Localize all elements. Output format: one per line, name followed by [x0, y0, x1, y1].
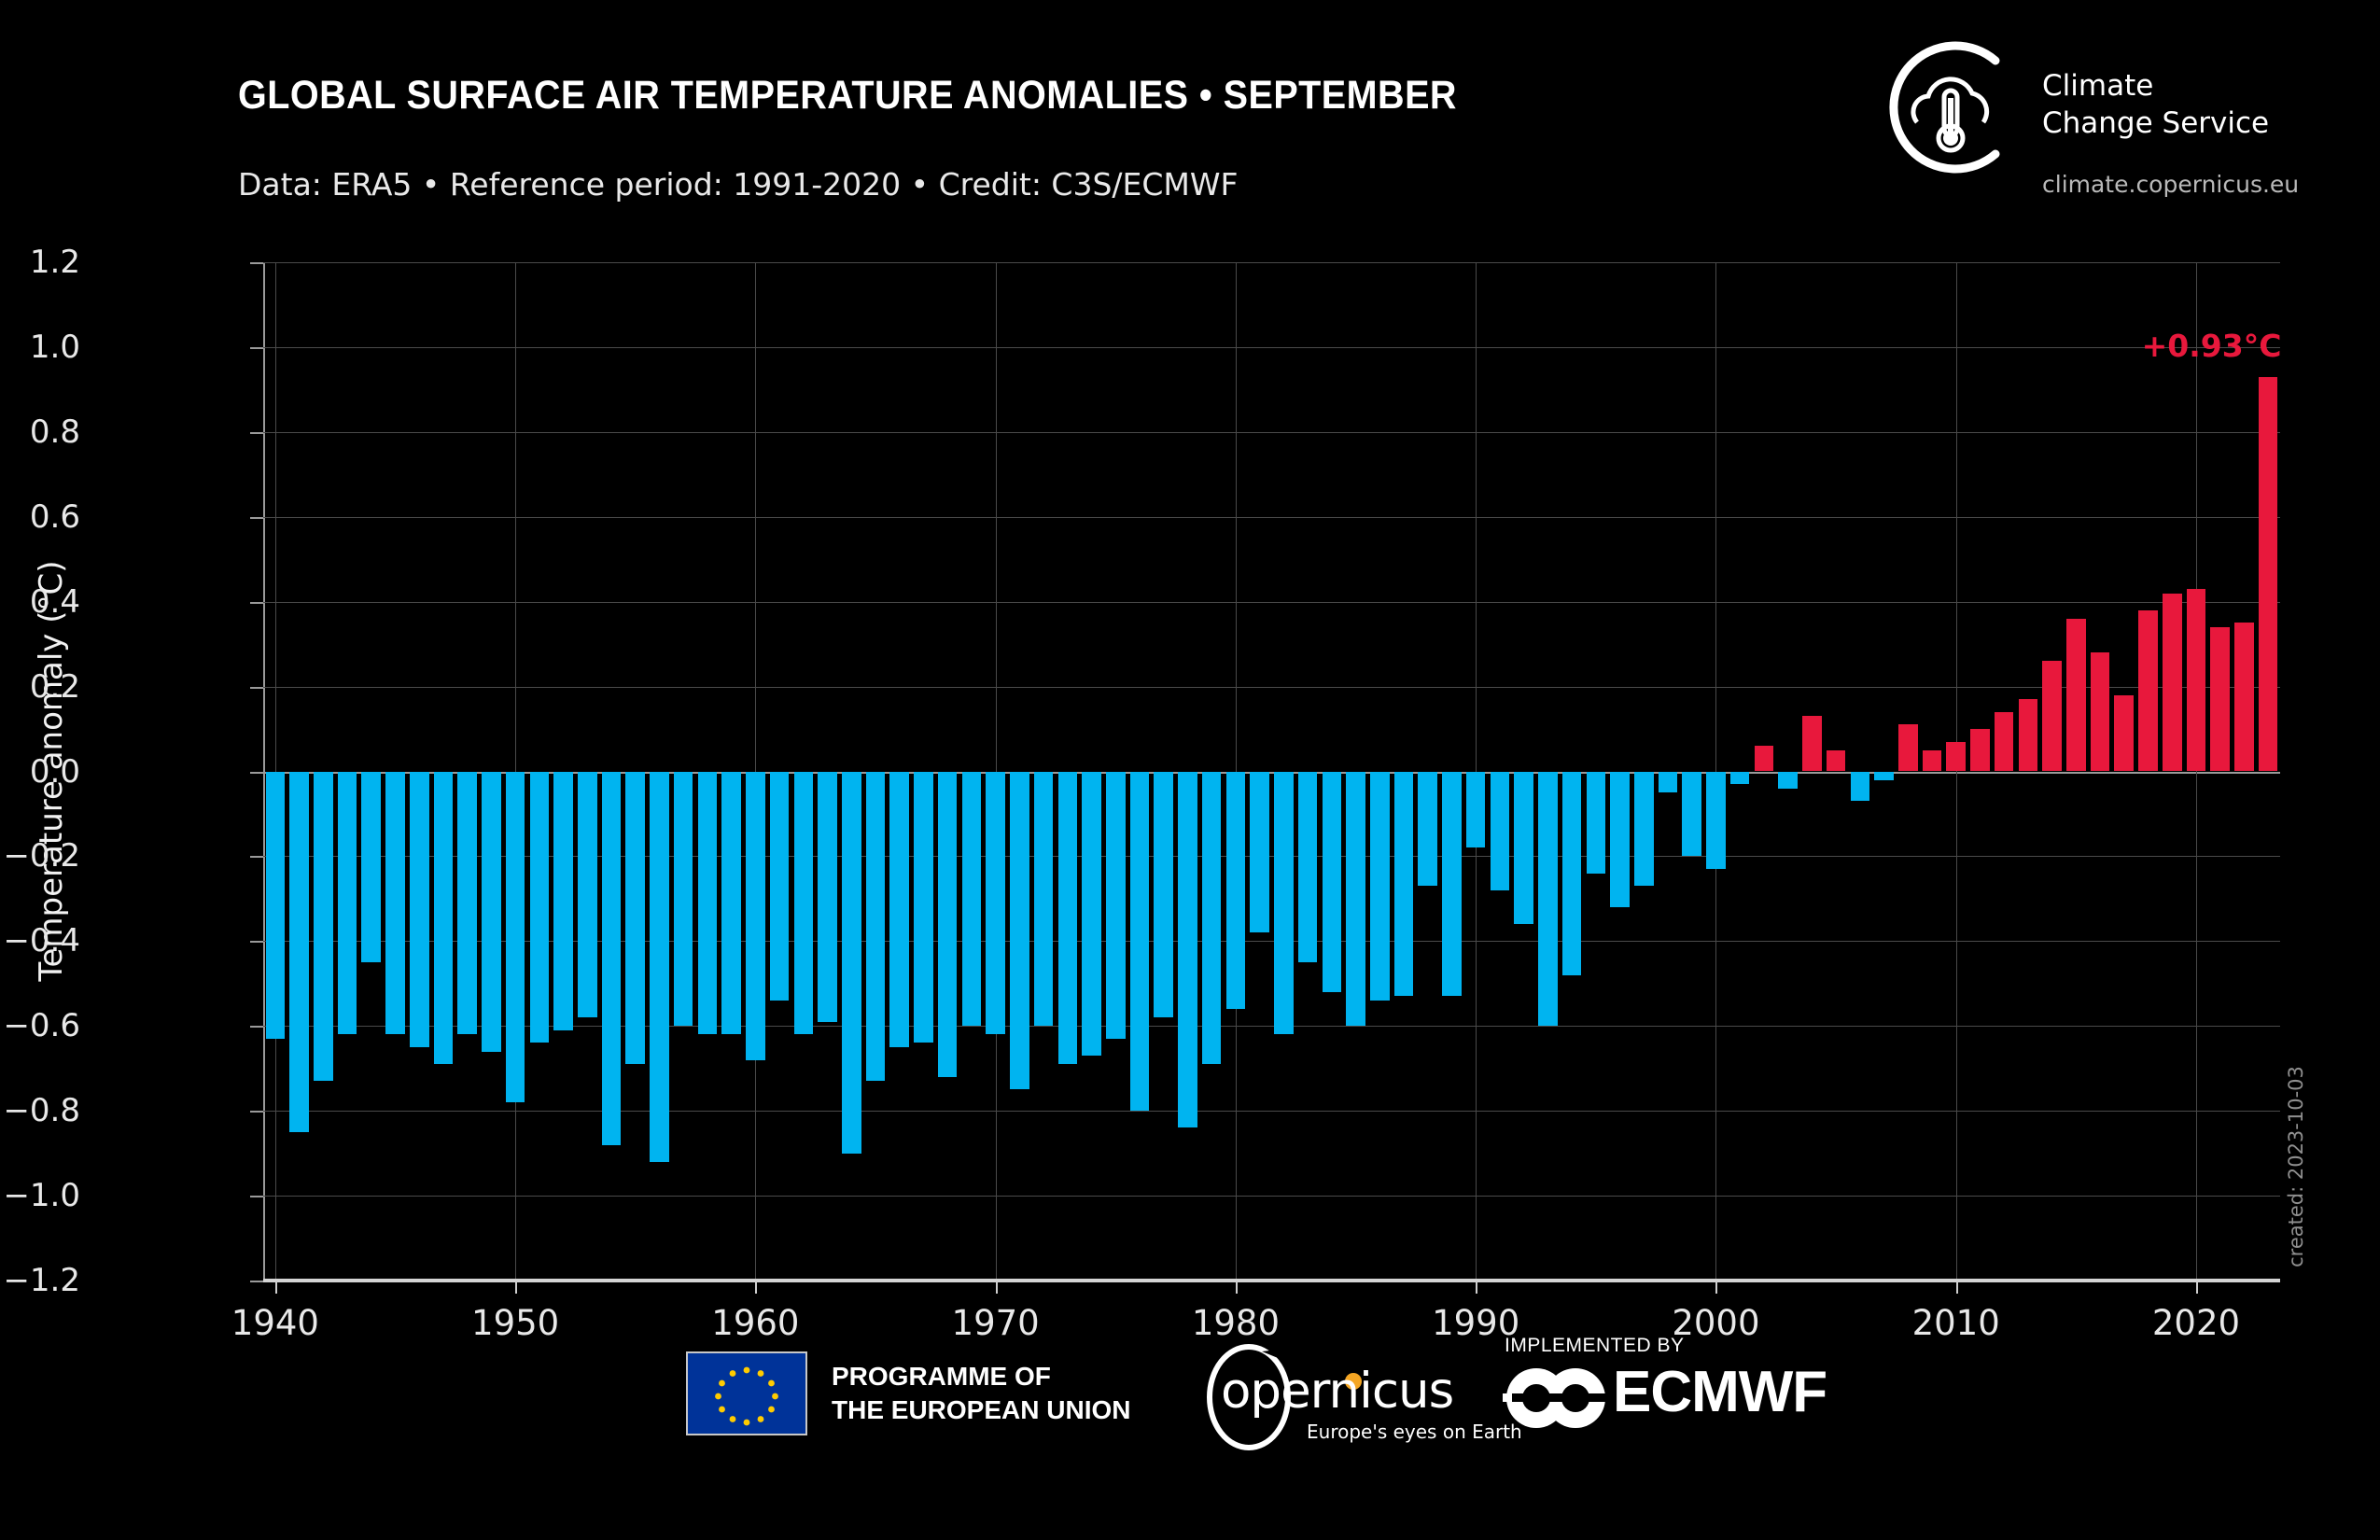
bar-1944 — [361, 772, 381, 963]
bar-2019 — [2163, 594, 2182, 772]
page-title: GLOBAL SURFACE AIR TEMPERATURE ANOMALIES… — [238, 73, 1457, 119]
bar-1971 — [1010, 772, 1029, 1090]
copernicus-tagline: Europe's eyes on Earth — [1307, 1421, 1522, 1443]
bar-1951 — [530, 772, 550, 1043]
bar-2018 — [2138, 610, 2158, 772]
x-tick-mark — [275, 1281, 277, 1294]
bar-1986 — [1370, 772, 1390, 1001]
bar-2023 — [2259, 377, 2278, 772]
bar-2021 — [2210, 627, 2230, 772]
page-subtitle: Data: ERA5 • Reference period: 1991-2020… — [238, 166, 1239, 203]
bar-1975 — [1106, 772, 1126, 1039]
c3s-logo-text: Climate Change Service — [2042, 68, 2269, 142]
y-tick-label: −0.8 — [0, 1092, 80, 1129]
bar-1948 — [457, 772, 477, 1035]
eu-flag-icon — [686, 1351, 807, 1435]
gridline-y — [263, 687, 2280, 688]
c3s-logo-line1: Climate — [2042, 68, 2269, 105]
bar-1964 — [842, 772, 861, 1154]
y-tick-mark — [250, 941, 263, 943]
bar-2001 — [1730, 772, 1750, 785]
x-tick-mark — [1715, 1281, 1717, 1294]
y-tick-mark — [250, 432, 263, 434]
bar-2015 — [2066, 619, 2086, 772]
eu-logo-line1: PROGRAMME OF — [832, 1360, 1130, 1393]
bar-1998 — [1659, 772, 1678, 793]
bar-1969 — [962, 772, 982, 1027]
bar-2010 — [1946, 742, 1966, 772]
bar-1946 — [410, 772, 429, 1047]
bar-1976 — [1130, 772, 1150, 1112]
bar-2011 — [1970, 729, 1990, 771]
y-tick-mark — [250, 347, 263, 349]
bar-1982 — [1274, 772, 1294, 1035]
y-tick-label: 1.0 — [0, 329, 80, 366]
bar-2009 — [1923, 750, 1942, 772]
y-tick-mark — [250, 856, 263, 858]
y-tick-label: 0.6 — [0, 498, 80, 536]
bar-2003 — [1778, 772, 1798, 789]
bar-1985 — [1346, 772, 1365, 1027]
x-tick-mark — [2196, 1281, 2198, 1294]
gridline-x — [2196, 262, 2197, 1281]
bar-1999 — [1682, 772, 1701, 857]
gridline-y — [263, 432, 2280, 433]
bar-1980 — [1226, 772, 1246, 1010]
y-tick-mark — [250, 772, 263, 774]
bar-1961 — [770, 772, 790, 1001]
created-timestamp: created: 2023-10-03 — [2285, 1066, 2307, 1267]
bar-1958 — [698, 772, 718, 1035]
x-tick-mark — [996, 1281, 998, 1294]
bar-1997 — [1634, 772, 1654, 887]
eu-logo-line2: THE EUROPEAN UNION — [832, 1393, 1130, 1427]
implemented-by-label: IMPLEMENTED BY — [1505, 1335, 1685, 1357]
bar-1972 — [1034, 772, 1054, 1027]
bar-1992 — [1514, 772, 1533, 925]
bar-1984 — [1323, 772, 1342, 992]
y-tick-label: −0.4 — [0, 922, 80, 959]
bar-2013 — [2019, 699, 2038, 771]
copernicus-wordmark: opernicus — [1221, 1363, 1453, 1420]
bar-1983 — [1298, 772, 1318, 963]
x-axis-line — [263, 1279, 2280, 1282]
bar-2014 — [2042, 661, 2062, 771]
bar-2005 — [1827, 750, 1846, 772]
y-tick-mark — [250, 602, 263, 604]
bar-2000 — [1706, 772, 1726, 870]
chart-page: GLOBAL SURFACE AIR TEMPERATURE ANOMALIES… — [0, 0, 2380, 1540]
y-tick-label: 0.4 — [0, 583, 80, 621]
gridline-y — [263, 1111, 2280, 1112]
bar-1991 — [1491, 772, 1510, 890]
x-tick-mark — [1476, 1281, 1477, 1294]
gridline-x — [1956, 262, 1957, 1281]
bar-2007 — [1874, 772, 1894, 780]
y-tick-label: 0.8 — [0, 413, 80, 451]
y-tick-label: 0.2 — [0, 668, 80, 706]
y-tick-mark — [250, 1196, 263, 1197]
bar-2002 — [1755, 746, 1774, 771]
y-tick-mark — [250, 1026, 263, 1028]
x-tick-mark — [755, 1281, 757, 1294]
bar-1987 — [1394, 772, 1414, 997]
bar-1978 — [1178, 772, 1197, 1128]
ecmwf-mark-icon — [1503, 1361, 1610, 1435]
x-tick-mark — [515, 1281, 517, 1294]
bar-1979 — [1202, 772, 1222, 1065]
y-tick-mark — [250, 687, 263, 689]
bar-1965 — [866, 772, 886, 1082]
bar-1956 — [650, 772, 669, 1162]
bar-2008 — [1898, 724, 1918, 771]
y-tick-label: 0.0 — [0, 753, 80, 791]
bar-1954 — [602, 772, 622, 1145]
footer-logos: PROGRAMME OF THE EUROPEAN UNION opernicu… — [0, 1335, 2380, 1493]
bar-2022 — [2234, 623, 2254, 771]
bar-1940 — [266, 772, 286, 1039]
y-tick-mark — [250, 262, 263, 264]
eu-stars-icon — [688, 1353, 805, 1434]
y-tick-mark — [250, 1281, 263, 1282]
bar-1988 — [1418, 772, 1437, 887]
bar-1959 — [721, 772, 741, 1035]
c3s-url: climate.copernicus.eu — [2042, 171, 2299, 198]
bar-1955 — [625, 772, 645, 1065]
bar-1974 — [1082, 772, 1101, 1057]
ecmwf-logo: IMPLEMENTED BY ECMWF — [1503, 1335, 1857, 1451]
y-tick-label: −0.2 — [0, 837, 80, 875]
bar-1952 — [553, 772, 573, 1030]
bar-1947 — [434, 772, 454, 1065]
eu-logo: PROGRAMME OF THE EUROPEAN UNION — [686, 1351, 1130, 1435]
x-tick-mark — [1956, 1281, 1958, 1294]
bar-1942 — [314, 772, 333, 1082]
bar-2020 — [2187, 589, 2206, 771]
bar-1962 — [794, 772, 814, 1035]
bar-1994 — [1562, 772, 1582, 975]
bar-1977 — [1154, 772, 1173, 1018]
bar-1943 — [338, 772, 357, 1035]
bar-1963 — [818, 772, 837, 1022]
gridline-y — [263, 262, 2280, 263]
y-tick-label: −1.2 — [0, 1262, 80, 1299]
c3s-logo: Climate Change Service climate.copernicu… — [1876, 33, 2361, 196]
bar-2016 — [2091, 652, 2110, 771]
y-tick-label: 1.2 — [0, 244, 80, 281]
cloud-thermometer-icon — [1876, 33, 2025, 182]
bar-1995 — [1587, 772, 1606, 874]
copernicus-logo: opernicus Europe's eyes on Earth — [1204, 1344, 1456, 1447]
bar-2006 — [1851, 772, 1870, 802]
bar-1967 — [914, 772, 933, 1043]
ecmwf-wordmark: ECMWF — [1613, 1359, 1827, 1425]
eu-logo-text: PROGRAMME OF THE EUROPEAN UNION — [832, 1360, 1130, 1427]
y-tick-mark — [250, 517, 263, 519]
bar-1950 — [506, 772, 525, 1103]
bar-1966 — [889, 772, 909, 1047]
y-tick-label: −1.0 — [0, 1177, 80, 1214]
bar-1970 — [986, 772, 1005, 1035]
bar-1957 — [674, 772, 693, 1027]
bar-1973 — [1058, 772, 1078, 1065]
c3s-logo-line2: Change Service — [2042, 105, 2269, 143]
bar-1993 — [1538, 772, 1558, 1027]
y-tick-mark — [250, 1111, 263, 1113]
gridline-y — [263, 602, 2280, 603]
latest-value-annotation: +0.93°C — [2142, 328, 2282, 364]
bar-1960 — [746, 772, 765, 1060]
y-tick-label: −0.6 — [0, 1007, 80, 1044]
bar-1996 — [1610, 772, 1630, 907]
gridline-y — [263, 1196, 2280, 1197]
bar-1981 — [1250, 772, 1269, 933]
bar-2004 — [1802, 716, 1822, 771]
bar-1968 — [938, 772, 958, 1077]
gridline-y — [263, 517, 2280, 518]
bar-1953 — [578, 772, 597, 1018]
x-tick-mark — [1236, 1281, 1238, 1294]
bar-1945 — [385, 772, 405, 1035]
plot-area — [263, 262, 2280, 1281]
bar-1941 — [289, 772, 309, 1132]
bar-2012 — [1995, 712, 2014, 772]
bar-1990 — [1466, 772, 1486, 848]
gridline-y — [263, 347, 2280, 348]
bar-2017 — [2114, 695, 2134, 772]
bar-1949 — [482, 772, 501, 1052]
bar-1989 — [1442, 772, 1462, 997]
